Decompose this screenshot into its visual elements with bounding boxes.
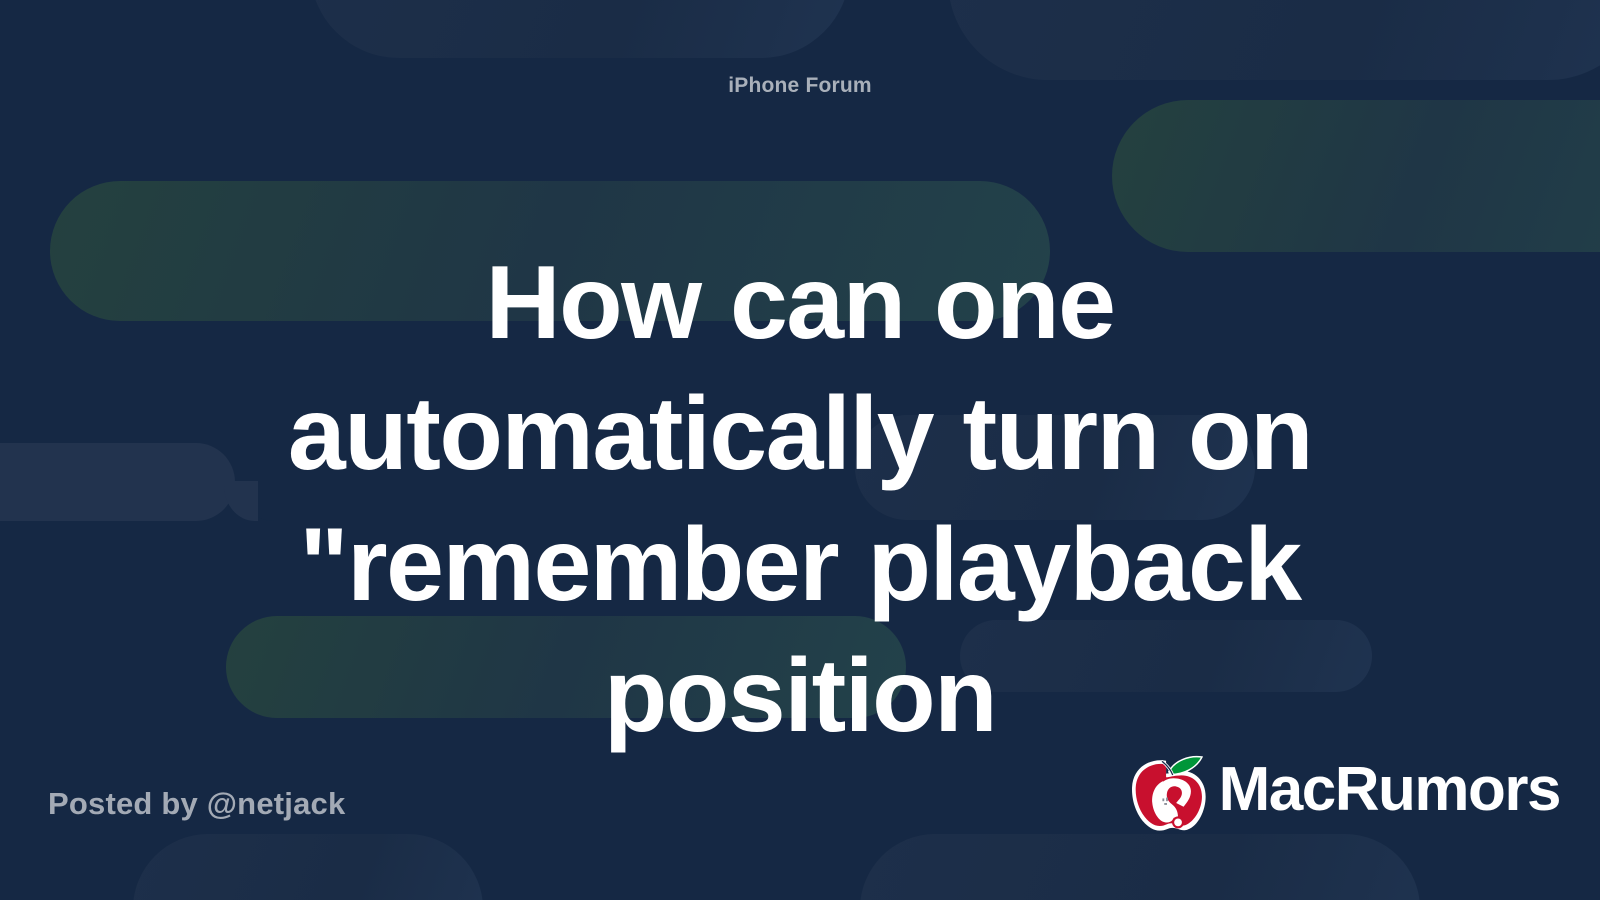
brand-wordmark: MacRumors [1219,759,1560,825]
macrumors-brand-lockup: MacRumors [1121,746,1560,838]
card-content: iPhone Forum How can one automatically t… [0,0,1600,900]
forum-label: iPhone Forum [0,74,1600,98]
macrumors-apple-question-mark-logo [1121,746,1213,838]
byline: Posted by @netjack [48,786,345,822]
macrumors-share-card: iPhone Forum How can one automatically t… [0,0,1600,900]
page-title: How can one automatically turn on "remem… [285,238,1315,762]
